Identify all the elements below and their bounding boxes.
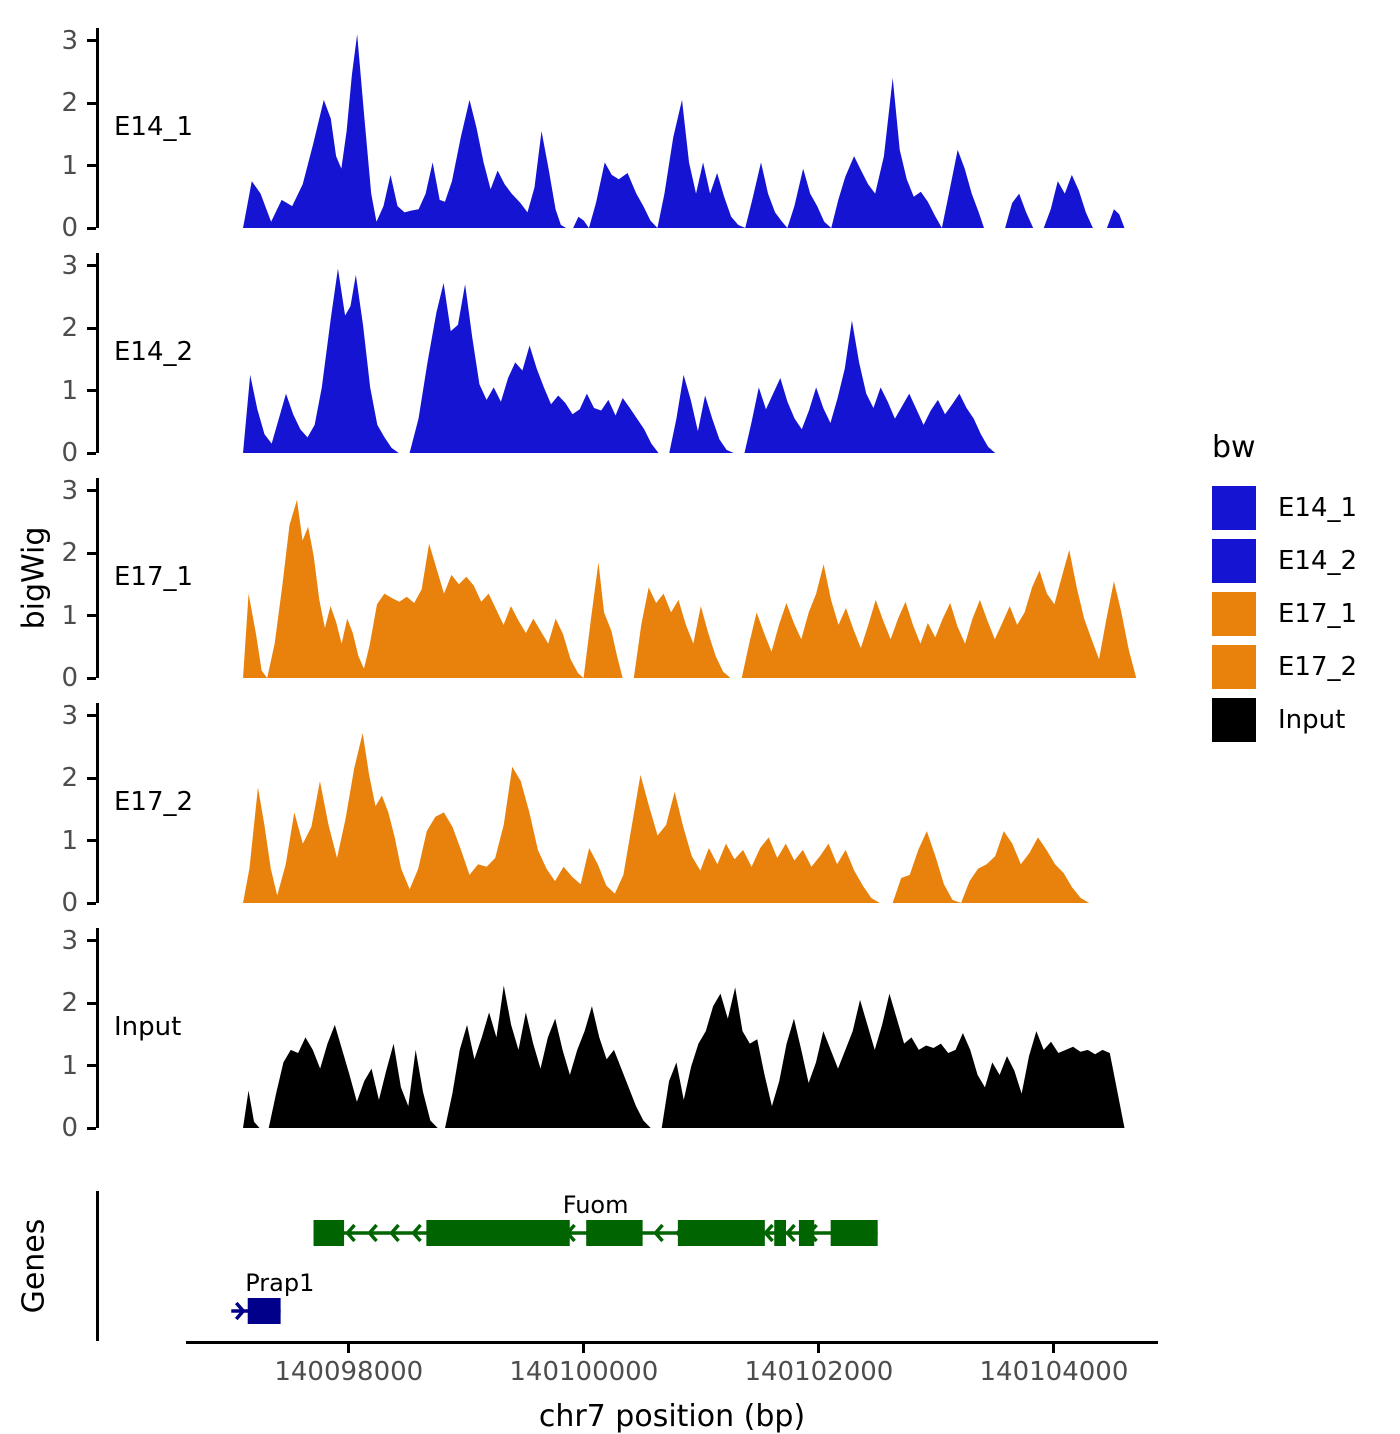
track-area-input (96, 928, 1148, 1128)
y-tick (87, 452, 96, 455)
track-area-e17_1 (96, 478, 1148, 678)
exon (586, 1220, 642, 1246)
y-tick-label: 0 (61, 890, 78, 916)
x-tick (347, 1344, 350, 1353)
legend-item-e14_2[interactable]: E14_2 (1212, 539, 1357, 583)
legend-title: bw (1212, 430, 1256, 465)
gene-label: Prap1 (245, 1269, 314, 1297)
y-tick (87, 39, 96, 42)
track-panel-e17_2: 0123E17_2 (96, 703, 1148, 903)
track-area-e14_1 (96, 28, 1148, 228)
y-tick-label: 2 (61, 540, 78, 566)
x-axis-title: chr7 position (bp) (186, 1399, 1158, 1434)
y-tick-label: 0 (61, 665, 78, 691)
y-tick (87, 902, 96, 905)
legend-swatch (1212, 539, 1256, 583)
x-tick-label: 140100000 (474, 1359, 694, 1385)
y-tick-label: 2 (61, 765, 78, 791)
exon (774, 1220, 786, 1246)
gene-label: Fuom (563, 1191, 629, 1219)
track-area-e14_2 (96, 253, 1148, 453)
y-axis-title: bigWig (17, 527, 52, 630)
x-tick-label: 140098000 (239, 1359, 459, 1385)
legend-item-e17_1[interactable]: E17_1 (1212, 592, 1357, 636)
y-tick-label: 1 (61, 153, 78, 179)
y-tick-label: 3 (61, 928, 78, 954)
exon (678, 1220, 765, 1246)
legend-label: E14_2 (1278, 546, 1357, 576)
track-panel-e14_1: 0123E14_1 (96, 28, 1148, 228)
y-tick (87, 264, 96, 267)
y-tick (87, 1064, 96, 1067)
x-tick-label: 140104000 (944, 1359, 1164, 1385)
legend-swatch (1212, 592, 1256, 636)
y-tick-label: 1 (61, 1053, 78, 1079)
y-tick (87, 777, 96, 780)
x-tick (1052, 1344, 1055, 1353)
gene-prap1[interactable]: Prap1 (231, 1269, 314, 1324)
y-tick-label: 1 (61, 378, 78, 404)
y-tick (87, 164, 96, 167)
y-tick (87, 839, 96, 842)
gene-fuom[interactable]: Fuom (314, 1191, 878, 1246)
track-panel-input: 0123Input (96, 928, 1148, 1128)
legend-label: E17_2 (1278, 652, 1357, 682)
legend-item-e14_1[interactable]: E14_1 (1212, 486, 1357, 530)
legend-item-input[interactable]: Input (1212, 698, 1345, 742)
genes-axis-title: Genes (17, 1219, 52, 1314)
genome-browser-figure: bigWig Genes 0123E14_10123E14_20123E17_1… (0, 0, 1400, 1400)
y-tick (87, 614, 96, 617)
y-tick-label: 3 (61, 253, 78, 279)
track-panel-e14_2: 0123E14_2 (96, 253, 1148, 453)
y-tick-label: 0 (61, 1115, 78, 1141)
y-tick-label: 3 (61, 28, 78, 54)
x-tick (582, 1344, 585, 1353)
x-tick-label: 140102000 (709, 1359, 929, 1385)
y-tick (87, 1002, 96, 1005)
legend-item-e17_2[interactable]: E17_2 (1212, 645, 1357, 689)
y-tick (87, 1127, 96, 1130)
y-tick (87, 389, 96, 392)
y-tick-label: 1 (61, 603, 78, 629)
exon (831, 1220, 878, 1246)
x-axis-line (186, 1341, 1158, 1344)
legend-label: E14_1 (1278, 493, 1357, 523)
track-panel-e17_1: 0123E17_1 (96, 478, 1148, 678)
legend-swatch (1212, 486, 1256, 530)
y-tick (87, 939, 96, 942)
track-area-e17_2 (96, 703, 1148, 903)
y-tick (87, 227, 96, 230)
x-tick (817, 1344, 820, 1353)
y-tick-label: 2 (61, 90, 78, 116)
exon (314, 1220, 345, 1246)
genes-panel: FuomPrap1 (96, 1191, 1148, 1341)
y-tick (87, 677, 96, 680)
y-tick-label: 3 (61, 478, 78, 504)
y-tick-label: 0 (61, 440, 78, 466)
y-tick (87, 102, 96, 105)
y-tick-label: 2 (61, 990, 78, 1016)
legend-swatch (1212, 645, 1256, 689)
y-tick (87, 552, 96, 555)
y-tick (87, 714, 96, 717)
y-tick-label: 1 (61, 828, 78, 854)
y-tick-label: 3 (61, 703, 78, 729)
exon (426, 1220, 569, 1246)
exon (248, 1298, 281, 1324)
genes-track: FuomPrap1 (96, 1191, 1148, 1341)
legend-label: E17_1 (1278, 599, 1357, 629)
y-tick (87, 489, 96, 492)
legend-swatch (1212, 698, 1256, 742)
y-tick-label: 0 (61, 215, 78, 241)
legend-label: Input (1278, 705, 1345, 735)
y-tick-label: 2 (61, 315, 78, 341)
exon (799, 1220, 814, 1246)
y-tick (87, 327, 96, 330)
